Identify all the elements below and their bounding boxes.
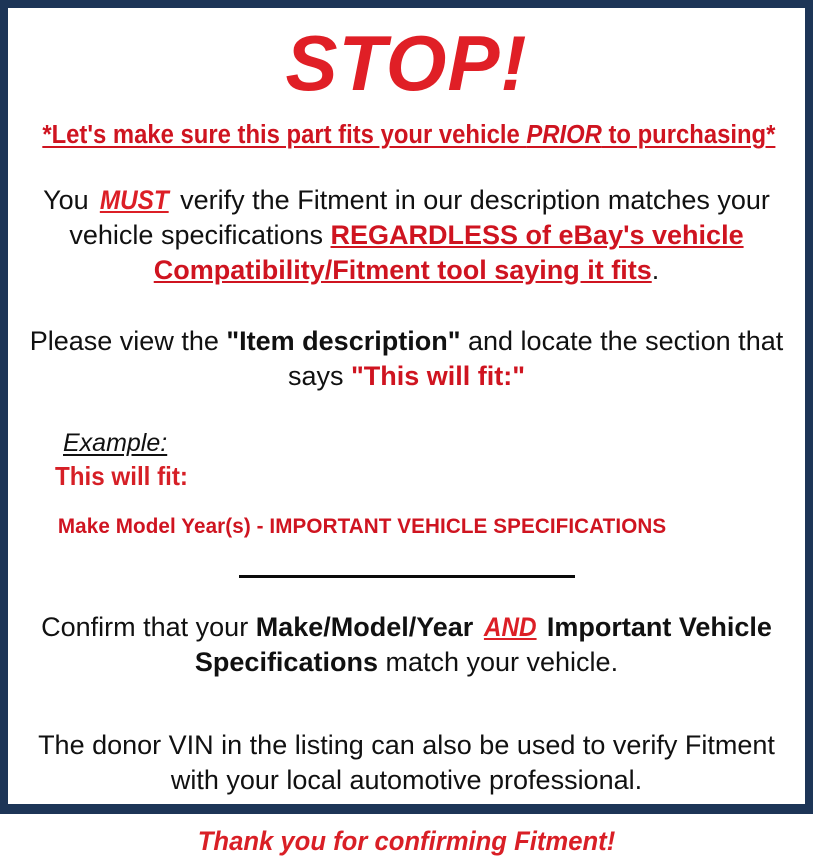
example-spec-line: Make Model Year(s) - IMPORTANT VEHICLE S… [55,492,766,539]
fitment-notice-card: STOP! *Let's make sure this part fits yo… [0,0,813,814]
example-block: Example: This will fit: Make Model Year(… [17,394,796,539]
paragraph-must-verify: You MUST verify the Fitment in our descr… [22,150,792,288]
must-text-3: . [652,255,660,285]
page-title: STOP! [17,8,796,106]
paragraph-donor-vin: The donor VIN in the listing can also be… [22,680,792,798]
confirm-text-3 [539,612,547,642]
subtitle-emphasis-prior: PRIOR [526,121,602,149]
emphasis-and: AND [484,610,537,645]
paragraph-view-description: Please view the "Item description" and l… [22,288,792,394]
view-text-1: Please view the [30,326,227,356]
subtitle-warning: *Let's make sure this part fits your veh… [42,106,770,150]
subtitle-text-before: *Let's make sure this part fits your veh… [42,121,526,149]
example-label: Example: [55,428,167,458]
confirm-text-1: Confirm that your [41,612,256,642]
emphasis-this-will-fit: "This will fit:" [351,361,525,391]
emphasis-must: MUST [100,183,169,218]
subtitle-text-after: to purchasing* [602,121,776,149]
notice-content: STOP! *Let's make sure this part fits yo… [8,8,805,804]
thanks-message: Thank you for confirming Fitment! [36,798,776,858]
paragraph-confirm-match: Confirm that your Make/Model/Year AND Im… [22,578,792,680]
example-label-row: Example: [55,428,796,458]
confirm-text-4: match your vehicle. [378,647,618,677]
emphasis-make-model-year: Make/Model/Year [256,612,474,642]
must-text-1: You [43,185,96,215]
confirm-text-2 [473,612,481,642]
emphasis-item-description: "Item description" [226,326,460,356]
example-fits-heading: This will fit: [55,458,744,492]
